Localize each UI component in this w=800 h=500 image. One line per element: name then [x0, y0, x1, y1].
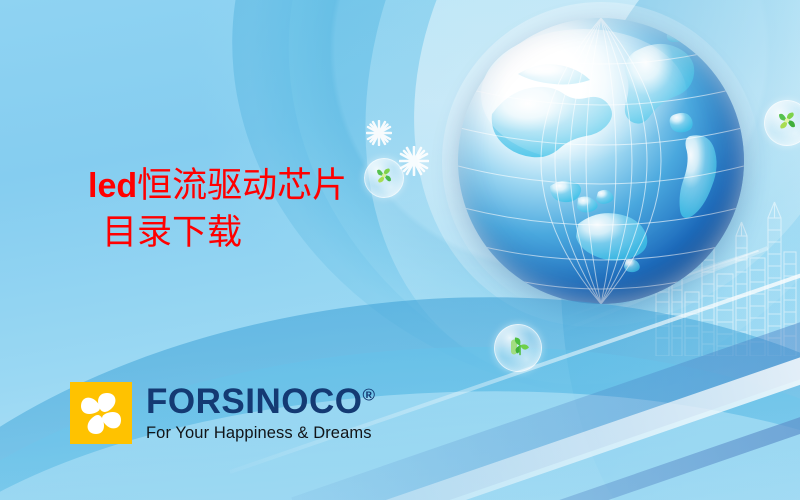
green-pinwheel-icon [374, 166, 394, 191]
globe-rim [458, 18, 744, 304]
bubble-with-green-pinwheel-icon [764, 100, 800, 146]
green-pinwheel-icon [775, 109, 799, 138]
logo-wordmark: FORSINOCO® [146, 384, 375, 419]
registered-trademark-icon: ® [362, 386, 375, 405]
background-ribbon-d [324, 0, 800, 408]
diagonal-band-blue [395, 361, 800, 500]
bubble-with-green-pinwheel-icon [364, 158, 404, 198]
light-ray-1 [560, 250, 759, 320]
background-right-ribbon [527, 0, 800, 500]
logo-wordmark-text: FORSINOCO [146, 382, 362, 421]
headline-text: led恒流驱动芯片 目录下载 [88, 163, 347, 257]
company-logo[interactable]: FORSINOCO® For Your Happiness & Dreams [70, 382, 375, 444]
logo-tagline: For Your Happiness & Dreams [146, 425, 375, 442]
headline-line-1: led恒流驱动芯片 [88, 163, 347, 210]
sparkle-star-icon [366, 120, 392, 146]
bubble-with-green-leaf-icon [494, 324, 542, 372]
background-wave-1 [0, 247, 800, 500]
promotional-banner: led恒流驱动芯片 目录下载 FORSINOCO® For Your Happi… [0, 0, 800, 500]
globe-halo [442, 2, 760, 320]
headline-line-2: 目录下载 [88, 210, 347, 257]
headline-cjk-text: 恒流驱动芯片 [137, 166, 347, 205]
green-leaf-sprout-icon [505, 334, 531, 363]
diagonal-band-white [326, 312, 800, 500]
headline-latin-word: led [88, 167, 137, 205]
logo-text-block: FORSINOCO® For Your Happiness & Dreams [146, 384, 375, 442]
globe-sphere [458, 18, 744, 304]
globe-highlight [481, 29, 687, 161]
sparkle-star-icon [399, 146, 429, 176]
light-ray-2 [544, 246, 768, 340]
city-skyline-icon [650, 196, 800, 356]
four-petal-pinwheel-flower-icon [70, 382, 132, 444]
world-globe-icon [458, 18, 744, 304]
light-ray-3 [574, 254, 748, 312]
